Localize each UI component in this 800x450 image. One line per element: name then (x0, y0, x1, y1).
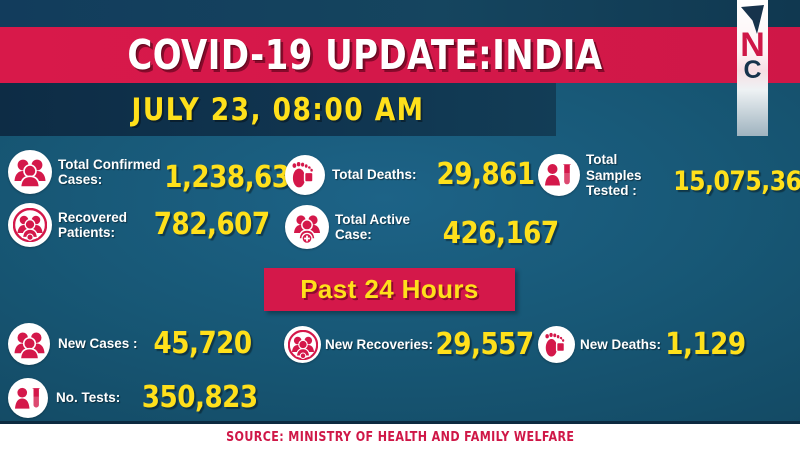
stat-label: Total Deaths: (332, 167, 417, 183)
stat-new-recoveries: New Recoveries: 29,557 (284, 326, 535, 363)
people-group-recovered-icon (8, 203, 52, 247)
stat-value: 782,607 (154, 210, 270, 240)
top-navy-strip (0, 0, 800, 28)
person-test-tube-icon (8, 378, 48, 418)
stat-value: 426,167 (443, 219, 559, 249)
past-24-hours-banner: Past 24 Hours (264, 268, 515, 311)
people-group-recovered-icon (284, 326, 321, 363)
people-group-icon (8, 323, 50, 365)
channel-logo: N C (737, 0, 768, 136)
infographic-canvas: COVID-19 UPDATE:INDIA JULY 23, 08:00 AM … (0, 0, 800, 450)
past-24-hours-label: Past 24 Hours (300, 274, 479, 305)
stat-label: No. Tests: (56, 390, 120, 406)
stat-total-confirmed-cases: Total Confirmed Cases: 1,238,635 (8, 150, 309, 194)
logo-letter-c: C (737, 58, 768, 83)
footer-bar: SOURCE: MINISTRY OF HEALTH AND FAMILY WE… (0, 424, 800, 450)
stat-total-active-case: Total Active Case: 426,167 (285, 205, 560, 249)
stat-label: New Cases : (58, 336, 138, 352)
date-time-label: JULY 23, 08:00 AM (14, 83, 542, 136)
stat-no-tests: No. Tests: 350,823 (8, 378, 260, 418)
page-title: COVID-19 UPDATE:INDIA (29, 27, 701, 83)
stat-total-samples-tested: Total Samples Tested : 15,075,369 (538, 152, 800, 199)
stat-value: 1,129 (665, 330, 745, 360)
people-group-icon (8, 150, 52, 194)
feet-toe-tag-icon (285, 155, 325, 195)
people-group-medical-cross-icon (285, 205, 329, 249)
stat-value: 45,720 (153, 329, 251, 359)
stat-label: Total Samples Tested : (586, 152, 672, 199)
stat-label: Total Confirmed Cases: (58, 157, 162, 188)
stat-value: 350,823 (142, 383, 258, 413)
stat-label: Total Active Case: (335, 212, 421, 243)
stat-total-deaths: Total Deaths: 29,861 (285, 155, 536, 195)
stat-label: New Deaths: (580, 337, 661, 353)
person-test-tube-icon (538, 154, 580, 196)
stat-value: 29,861 (436, 160, 534, 190)
feet-toe-tag-icon (538, 326, 575, 363)
stat-new-cases: New Cases : 45,720 (8, 323, 253, 365)
stat-new-deaths: New Deaths: 1,129 (538, 326, 747, 363)
stat-value: 29,557 (436, 330, 534, 360)
stat-recovered-patients: Recovered Patients: 782,607 (8, 203, 271, 247)
stat-label: New Recoveries: (325, 337, 433, 353)
stat-label: Recovered Patients: (58, 210, 142, 241)
source-label: SOURCE: MINISTRY OF HEALTH AND FAMILY WE… (226, 430, 574, 445)
stat-value: 15,075,369 (673, 168, 800, 195)
